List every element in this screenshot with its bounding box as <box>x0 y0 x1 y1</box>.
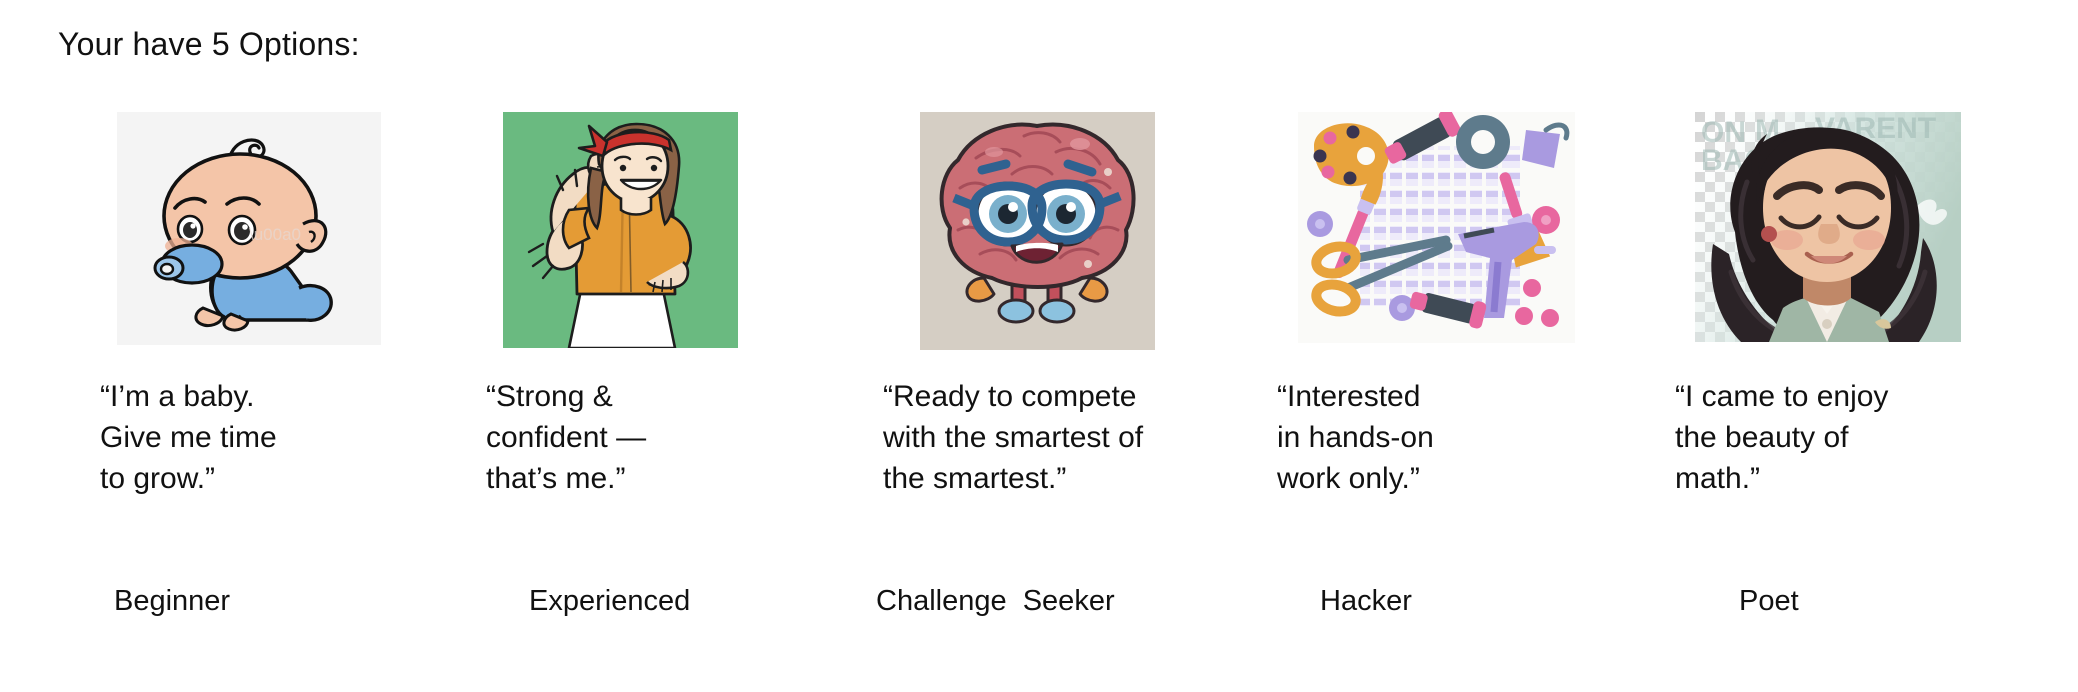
serene-woman-portrait-illustration[interactable]: ON M VARENT BAC <box>1695 112 1961 342</box>
option-caption: “Ready to compete with the smartest of t… <box>883 376 1213 499</box>
option-card-experienced[interactable]: “Strong & confident — that’s me.” Experi… <box>440 100 800 670</box>
strong-woman-flexing-illustration[interactable] <box>503 112 738 348</box>
crawling-baby-illustration[interactable]: \u00a0 <box>117 112 381 345</box>
option-caption: “I came to enjoy the beauty of math.” <box>1675 376 1985 499</box>
craft-supplies-flatlay-illustration[interactable] <box>1298 112 1575 343</box>
svg-text:\u00a0: \u00a0 <box>249 225 301 244</box>
smart-brain-with-glasses-illustration[interactable] <box>920 112 1155 350</box>
option-caption: “Strong & confident — that’s me.” <box>486 376 756 499</box>
option-card-hacker[interactable]: “Interested in hands-on work only.” Hack… <box>1245 100 1605 670</box>
option-label-beginner: Beginner <box>114 584 230 618</box>
option-card-beginner[interactable]: \u00a0 “I’m a baby. Give me time to grow… <box>58 100 418 670</box>
option-card-poet[interactable]: ON M VARENT BAC <box>1640 100 2000 670</box>
option-label-experienced: Experienced <box>529 584 690 618</box>
option-caption: “Interested in hands-on work only.” <box>1277 376 1547 499</box>
option-label-hacker: Hacker <box>1320 584 1412 618</box>
option-card-challenge-seeker[interactable]: “Ready to compete with the smartest of t… <box>860 100 1220 670</box>
option-caption: “I’m a baby. Give me time to grow.” <box>100 376 410 499</box>
option-label-poet: Poet <box>1739 584 1799 618</box>
options-row: \u00a0 “I’m a baby. Give me time to grow… <box>0 100 2078 680</box>
page-title: Your have 5 Options: <box>58 24 360 64</box>
option-label-challenge-seeker: Challenge Seeker <box>876 584 1115 618</box>
